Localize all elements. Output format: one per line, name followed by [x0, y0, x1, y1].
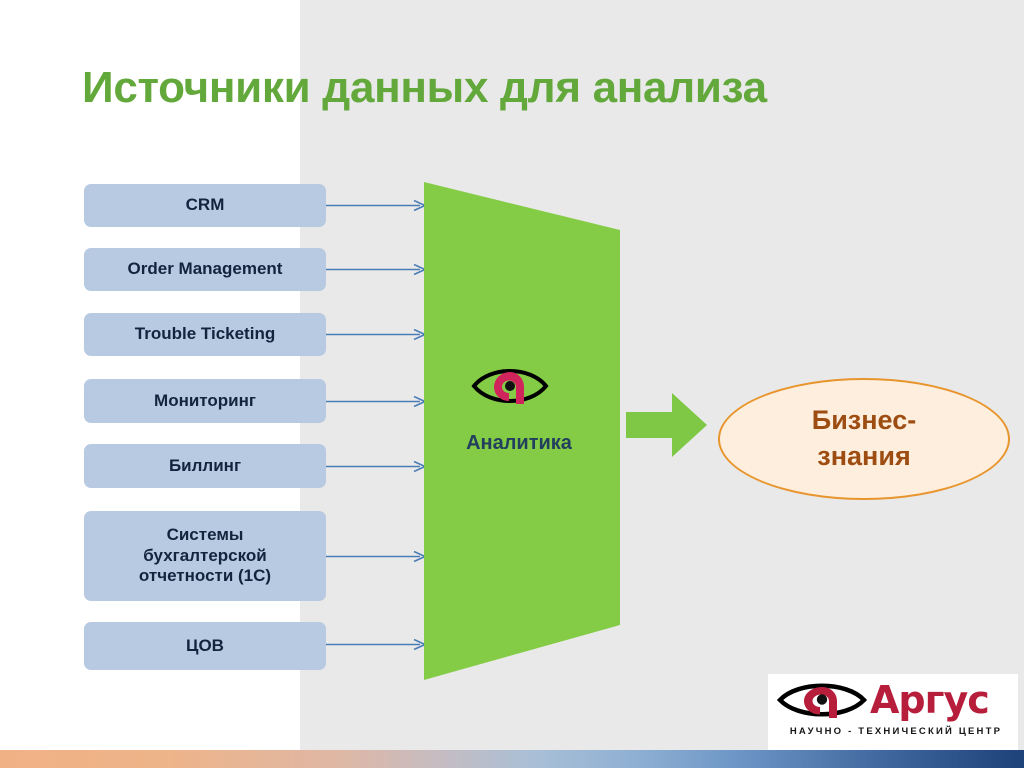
analytics-trapezoid-shape[interactable] [418, 175, 628, 687]
source-box-label: ЦОВ [84, 636, 326, 657]
analytics-label: Аналитика [424, 432, 614, 455]
argus-wordmark: Аргус [870, 681, 989, 719]
argus-tagline: НАУЧНО - ТЕХНИЧЕСКИЙ ЦЕНТР [768, 726, 1018, 737]
background-panel-right [300, 0, 1024, 750]
source-box-label-line-2: бухгалтерской [78, 546, 332, 567]
argus-eye-icon [776, 678, 868, 722]
source-box-label-line-1: Системы [78, 525, 332, 546]
source-box-trouble-ticketing[interactable]: Trouble Ticketing [84, 313, 326, 356]
source-box-crm[interactable]: CRM [84, 184, 326, 227]
source-box-billing[interactable]: Биллинг [84, 444, 326, 488]
slide-canvas: Источники данных для анализа CRM Order M… [0, 0, 1024, 768]
source-box-label: Trouble Ticketing [84, 324, 326, 345]
source-box-order-management[interactable]: Order Management [84, 248, 326, 291]
argus-logo-row: Аргус [768, 674, 1018, 726]
footer-gradient-bar [0, 750, 1024, 768]
source-box-monitoring[interactable]: Мониторинг [84, 379, 326, 423]
source-box-label: CRM [84, 195, 326, 216]
argus-eye-icon [470, 362, 550, 410]
source-box-label: Order Management [84, 259, 326, 280]
page-title: Источники данных для анализа [82, 64, 982, 112]
source-box-label: Мониторинг [84, 391, 326, 412]
business-knowledge-ellipse[interactable]: Бизнес- знания [718, 378, 1010, 500]
source-box-label-line-3: отчетности (1С) [78, 566, 332, 587]
business-knowledge-line-2: знания [817, 439, 910, 475]
source-box-label: Биллинг [84, 456, 326, 477]
source-box-accounting-systems[interactable]: Системы бухгалтерской отчетности (1С) [84, 511, 326, 601]
flow-arrow-icon [626, 390, 708, 460]
argus-brand-logo: Аргус НАУЧНО - ТЕХНИЧЕСКИЙ ЦЕНТР [768, 674, 1018, 750]
source-box-cov[interactable]: ЦОВ [84, 622, 326, 670]
business-knowledge-line-1: Бизнес- [812, 403, 916, 439]
